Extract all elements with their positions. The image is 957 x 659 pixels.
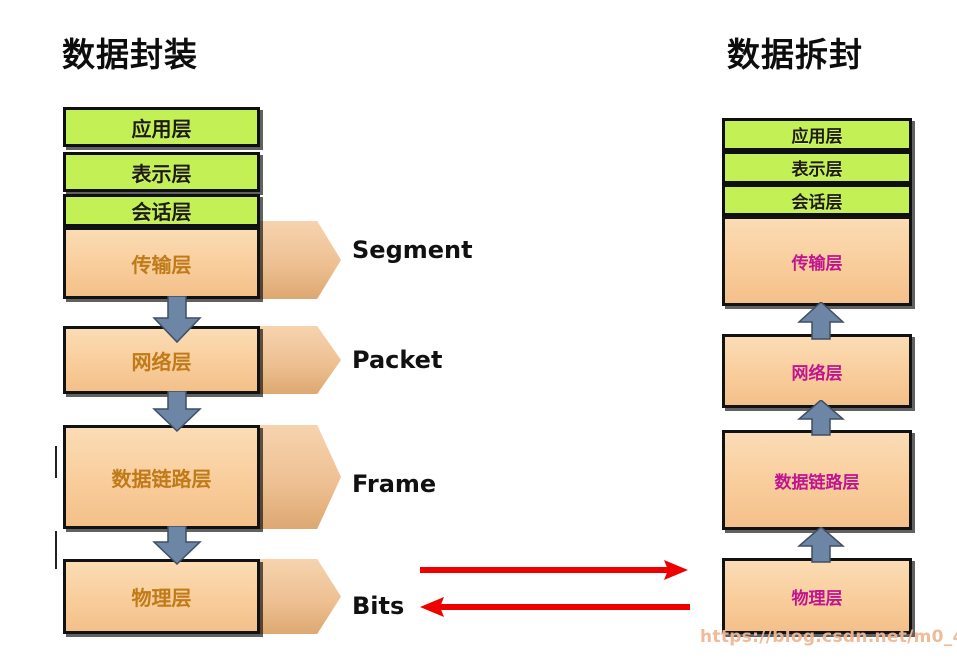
transmission-arrow-left-icon xyxy=(420,596,690,618)
left-layer-presentation[interactable]: 表示层 xyxy=(63,152,260,192)
right-layer-session[interactable]: 会话层 xyxy=(722,184,912,216)
right-layer-datalink[interactable]: 数据链路层 xyxy=(722,430,912,530)
right-layer-network-label: 网络层 xyxy=(792,359,843,384)
pdu-tail-segment xyxy=(256,221,341,299)
right-layer-presentation[interactable]: 表示层 xyxy=(722,151,912,184)
left-layer-transport[interactable]: 传输层 xyxy=(63,227,260,299)
right-layer-transport[interactable]: 传输层 xyxy=(722,216,912,306)
pdu-tail-packet xyxy=(256,326,341,394)
right-layer-application-label: 应用层 xyxy=(792,122,843,147)
left-layer-datalink[interactable]: 数据链路层 xyxy=(63,425,260,529)
scan-artifact-mark xyxy=(55,446,57,478)
left-layer-network-label: 网络层 xyxy=(132,346,192,375)
right-layer-session-label: 会话层 xyxy=(792,188,843,213)
source-watermark: https://blog.csdn.net/m0_46153949 xyxy=(700,627,957,647)
arrow-down-network-to-datalink-icon xyxy=(152,391,202,433)
transmission-arrow-right-icon xyxy=(420,559,690,581)
left-layer-session[interactable]: 会话层 xyxy=(63,194,260,227)
right-layer-presentation-label: 表示层 xyxy=(792,155,843,180)
right-layer-network[interactable]: 网络层 xyxy=(722,334,912,408)
pdu-label-packet: Packet xyxy=(352,346,442,374)
right-layer-datalink-label: 数据链路层 xyxy=(775,468,860,493)
left-layer-transport-label: 传输层 xyxy=(132,249,192,278)
pdu-tail-bits xyxy=(256,559,341,634)
pdu-tail-frame xyxy=(256,425,341,529)
arrow-down-transport-to-network-icon xyxy=(152,296,202,344)
arrow-up-network-to-transport-icon xyxy=(797,302,845,340)
right-panel-title: 数据拆封 xyxy=(727,28,863,76)
pdu-label-frame: Frame xyxy=(352,470,436,498)
diagram-canvas: 数据封装 数据拆封 应用层 表示层 会话层 传输层 网络层 数据链路层 xyxy=(0,0,957,659)
arrow-up-physical-to-datalink-icon xyxy=(797,527,845,563)
right-layer-physical-label: 物理层 xyxy=(792,584,843,609)
left-layer-application[interactable]: 应用层 xyxy=(63,107,260,147)
right-layer-application[interactable]: 应用层 xyxy=(722,118,912,151)
pdu-label-bits: Bits xyxy=(352,592,404,620)
arrow-up-datalink-to-network-icon xyxy=(797,400,845,436)
left-layer-session-label: 会话层 xyxy=(132,196,192,225)
scan-artifact-mark xyxy=(55,531,57,569)
left-layer-application-label: 应用层 xyxy=(132,113,192,142)
left-layer-physical[interactable]: 物理层 xyxy=(63,559,260,634)
left-layer-presentation-label: 表示层 xyxy=(132,158,192,187)
right-layer-transport-label: 传输层 xyxy=(792,249,843,274)
arrow-down-datalink-to-physical-icon xyxy=(152,526,202,566)
left-layer-datalink-label: 数据链路层 xyxy=(112,463,212,492)
right-layer-physical[interactable]: 物理层 xyxy=(722,558,912,634)
left-panel-title: 数据封装 xyxy=(62,28,198,76)
pdu-label-segment: Segment xyxy=(352,236,473,264)
left-layer-physical-label: 物理层 xyxy=(132,582,192,611)
